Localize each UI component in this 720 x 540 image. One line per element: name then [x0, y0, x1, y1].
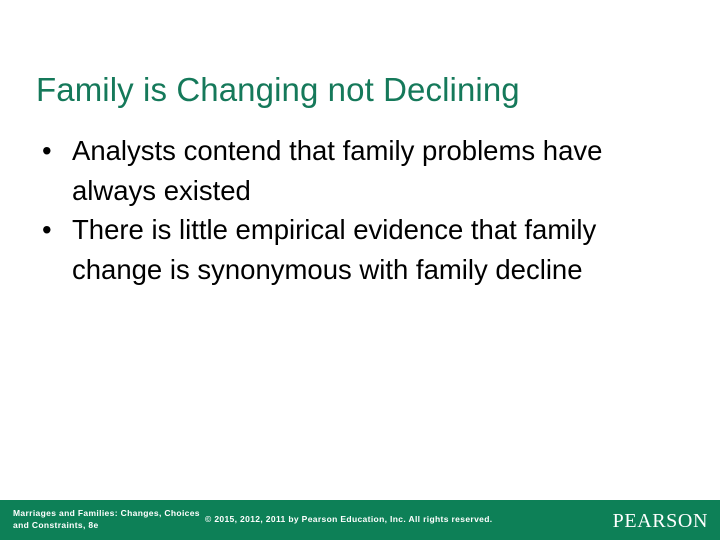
list-item: • Analysts contend that family problems … [36, 131, 686, 210]
slide-canvas: Family is Changing not Declining • Analy… [0, 0, 720, 540]
pearson-logo: PEARSON [613, 510, 708, 532]
page-title: Family is Changing not Declining [36, 70, 686, 110]
list-item-text: Analysts contend that family problems ha… [72, 135, 602, 206]
bullet-point-icon: • [42, 131, 52, 171]
footer-book-title: Marriages and Families: Changes, Choices… [13, 508, 213, 531]
footer-copyright: © 2015, 2012, 2011 by Pearson Education,… [205, 514, 605, 526]
list-item-text: There is little empirical evidence that … [72, 214, 596, 285]
footer-bar: Marriages and Families: Changes, Choices… [0, 500, 720, 540]
list-item: • There is little empirical evidence tha… [36, 210, 686, 289]
bullet-list: • Analysts contend that family problems … [36, 131, 686, 289]
bullet-point-icon: • [42, 210, 52, 250]
